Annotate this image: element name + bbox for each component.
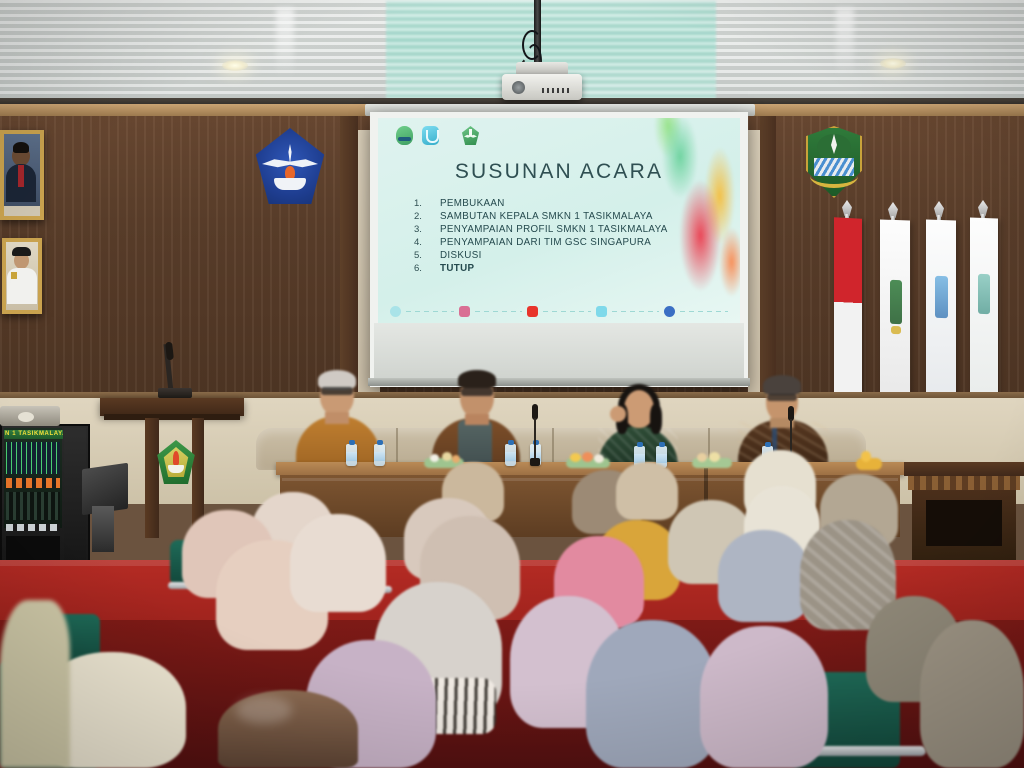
agenda-item: 6. TUTUP bbox=[414, 263, 668, 274]
ceiling-reflection-left bbox=[276, 8, 294, 78]
slide-header-logos bbox=[396, 126, 480, 145]
water-bottle bbox=[346, 440, 357, 466]
agenda-text: PENYAMPAIAN PROFIL SMKN 1 TASIKMALAYA bbox=[440, 224, 668, 235]
slide-agenda-list: 1. PEMBUKAAN 2. SAMBUTAN KEPALA SMKN 1 T… bbox=[414, 198, 668, 276]
mixer-knobs bbox=[6, 478, 60, 488]
ceiling-reflection-right bbox=[836, 8, 854, 78]
downlight-right bbox=[880, 58, 906, 69]
agenda-item: 4. PENYAMPAIAN DARI TIM GSC SINGAPURA bbox=[414, 237, 668, 248]
institution-flag-3 bbox=[970, 218, 998, 403]
agenda-item: 2. SAMBUTAN KEPALA SMKN 1 TASIKMALAYA bbox=[414, 211, 668, 222]
water-bottle bbox=[505, 440, 516, 466]
mixer-banner-text: N 1 TASIKMALAYA bbox=[4, 430, 63, 439]
fruit-plate-right bbox=[692, 452, 732, 468]
footer-divider bbox=[543, 311, 591, 312]
tut-wuri-handayani-logo bbox=[461, 126, 480, 145]
footer-divider bbox=[475, 311, 523, 312]
website-icon bbox=[390, 306, 401, 317]
slide-title: SUSUNAN ACARA bbox=[378, 160, 740, 184]
agenda-item: 3. PENYAMPAIAN PROFIL SMKN 1 TASIKMALAYA bbox=[414, 224, 668, 235]
youtube-icon bbox=[527, 306, 538, 317]
audience-member bbox=[616, 462, 678, 520]
footer-divider bbox=[612, 311, 660, 312]
audience-member-bald bbox=[218, 690, 358, 768]
footer-divider bbox=[406, 311, 454, 312]
agenda-text: PEMBUKAAN bbox=[440, 198, 505, 209]
audience-member bbox=[290, 514, 386, 612]
instagram-icon bbox=[459, 306, 470, 317]
audience-member bbox=[586, 620, 718, 768]
lectern-mic-base bbox=[158, 388, 192, 398]
podium-shadow bbox=[104, 414, 240, 420]
projector-ports bbox=[542, 88, 572, 93]
mixer-channel-strip bbox=[6, 492, 60, 520]
projector-lens bbox=[512, 81, 525, 94]
agenda-number: 2. bbox=[414, 211, 440, 222]
seminar-hall-photo: SUSUNAN ACARA 1. PEMBUKAAN 2. SAMBUTAN K… bbox=[0, 0, 1024, 768]
agenda-number: 1. bbox=[414, 198, 440, 209]
water-bottle bbox=[374, 440, 385, 466]
downlight-left bbox=[222, 60, 248, 71]
agenda-text: DISKUSI bbox=[440, 250, 482, 261]
panelist-1 bbox=[296, 368, 380, 472]
screen-lower-blank bbox=[374, 323, 744, 381]
smkn-1-tasikmalaya-emblem bbox=[156, 440, 196, 484]
agenda-number: 4. bbox=[414, 237, 440, 248]
agenda-number: 5. bbox=[414, 250, 440, 261]
tut-wuri-handayani-wall-logo bbox=[252, 128, 328, 204]
audience-member bbox=[718, 530, 810, 622]
mixer-buttons bbox=[6, 524, 60, 531]
side-podium-top bbox=[904, 462, 1024, 476]
wall-column-left bbox=[340, 116, 358, 406]
twitter-icon bbox=[596, 306, 607, 317]
facebook-icon bbox=[664, 306, 675, 317]
mixer-faders bbox=[6, 442, 60, 474]
slide-footer-social-bar bbox=[390, 304, 728, 318]
ceiling-projector bbox=[502, 74, 582, 100]
slide-surface: SUSUNAN ACARA 1. PEMBUKAAN 2. SAMBUTAN K… bbox=[378, 118, 740, 323]
screen-bottom-rail bbox=[368, 378, 750, 386]
monitor-stand bbox=[92, 506, 114, 552]
west-java-provincial-emblem bbox=[806, 126, 862, 198]
audience-member-edge bbox=[0, 600, 70, 768]
audience-member bbox=[700, 626, 828, 768]
portrait-president bbox=[0, 130, 44, 220]
green-leaf-logo bbox=[396, 126, 413, 145]
agenda-text: PENYAMPAIAN DARI TIM GSC SINGAPURA bbox=[440, 237, 651, 248]
fruit-plate-far-right bbox=[856, 450, 882, 470]
table-microphone-left bbox=[530, 404, 540, 466]
portrait-official bbox=[2, 238, 42, 314]
flower-arrangement-center bbox=[566, 452, 610, 468]
wall-column-right bbox=[760, 116, 776, 406]
agenda-item: 5. DISKUSI bbox=[414, 250, 668, 261]
audience-member bbox=[920, 620, 1024, 768]
rack-top-item bbox=[18, 412, 34, 422]
institution-flag-2 bbox=[926, 219, 956, 406]
side-podium-opening bbox=[926, 500, 1002, 546]
footer-divider bbox=[680, 311, 728, 312]
u-shaped-logo bbox=[422, 126, 439, 145]
indonesian-flag bbox=[834, 217, 862, 410]
agenda-text: TUTUP bbox=[440, 263, 474, 274]
institution-flag-1 bbox=[880, 219, 910, 406]
agenda-text: SAMBUTAN KEPALA SMKN 1 TASIKMALAYA bbox=[440, 211, 653, 222]
agenda-item: 1. PEMBUKAAN bbox=[414, 198, 668, 209]
agenda-number: 6. bbox=[414, 263, 440, 274]
agenda-number: 3. bbox=[414, 224, 440, 235]
side-podium-carving bbox=[908, 476, 1020, 490]
